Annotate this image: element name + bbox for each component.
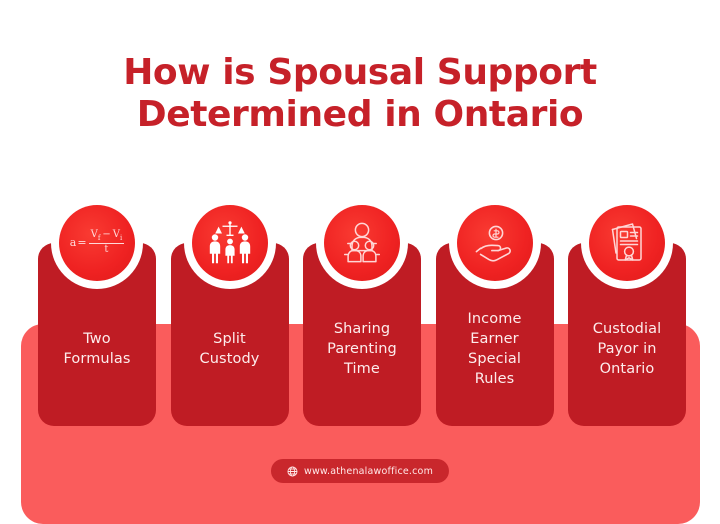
card-custodial-payor-ontario[interactable]: Custodial Payor in Ontario [568,243,686,426]
title-line-1: How is Spousal Support [0,52,720,94]
icon-badge [184,197,276,289]
icon-badge [316,197,408,289]
infographic-canvas: How is Spousal Support Determined in Ont… [0,0,720,509]
card-label: Sharing Parenting Time [309,319,415,379]
hand-holding-coin-icon [457,205,533,281]
card-split-custody[interactable]: Split Custody [171,243,289,426]
card-income-earner-special-rules[interactable]: Income Earner Special Rules [436,243,554,426]
card-label: Income Earner Special Rules [442,309,548,389]
formula-icon: a = Vf − Vi t [59,205,135,281]
icon-badge [581,197,673,289]
family-justice-scales-icon [192,205,268,281]
globe-icon [287,466,298,477]
icon-badge: a = Vf − Vi t [51,197,143,289]
icon-badge [449,197,541,289]
card-label: Two Formulas [44,329,150,369]
card-sharing-parenting-time[interactable]: Sharing Parenting Time [303,243,421,426]
title-line-2: Determined in Ontario [0,94,720,136]
website-url-text: www.athenalawoffice.com [304,466,433,477]
card-label: Custodial Payor in Ontario [574,319,680,379]
parent-children-icon [324,205,400,281]
cards-row: a = Vf − Vi t Two Formulas [38,243,686,427]
card-two-formulas[interactable]: a = Vf − Vi t Two Formulas [38,243,156,426]
card-label: Split Custody [177,329,283,369]
certificate-documents-icon [589,205,665,281]
website-url-badge[interactable]: www.athenalawoffice.com [271,459,449,483]
formula-icon-text: a = Vf − Vi t [70,230,125,255]
page-title: How is Spousal Support Determined in Ont… [0,52,720,137]
